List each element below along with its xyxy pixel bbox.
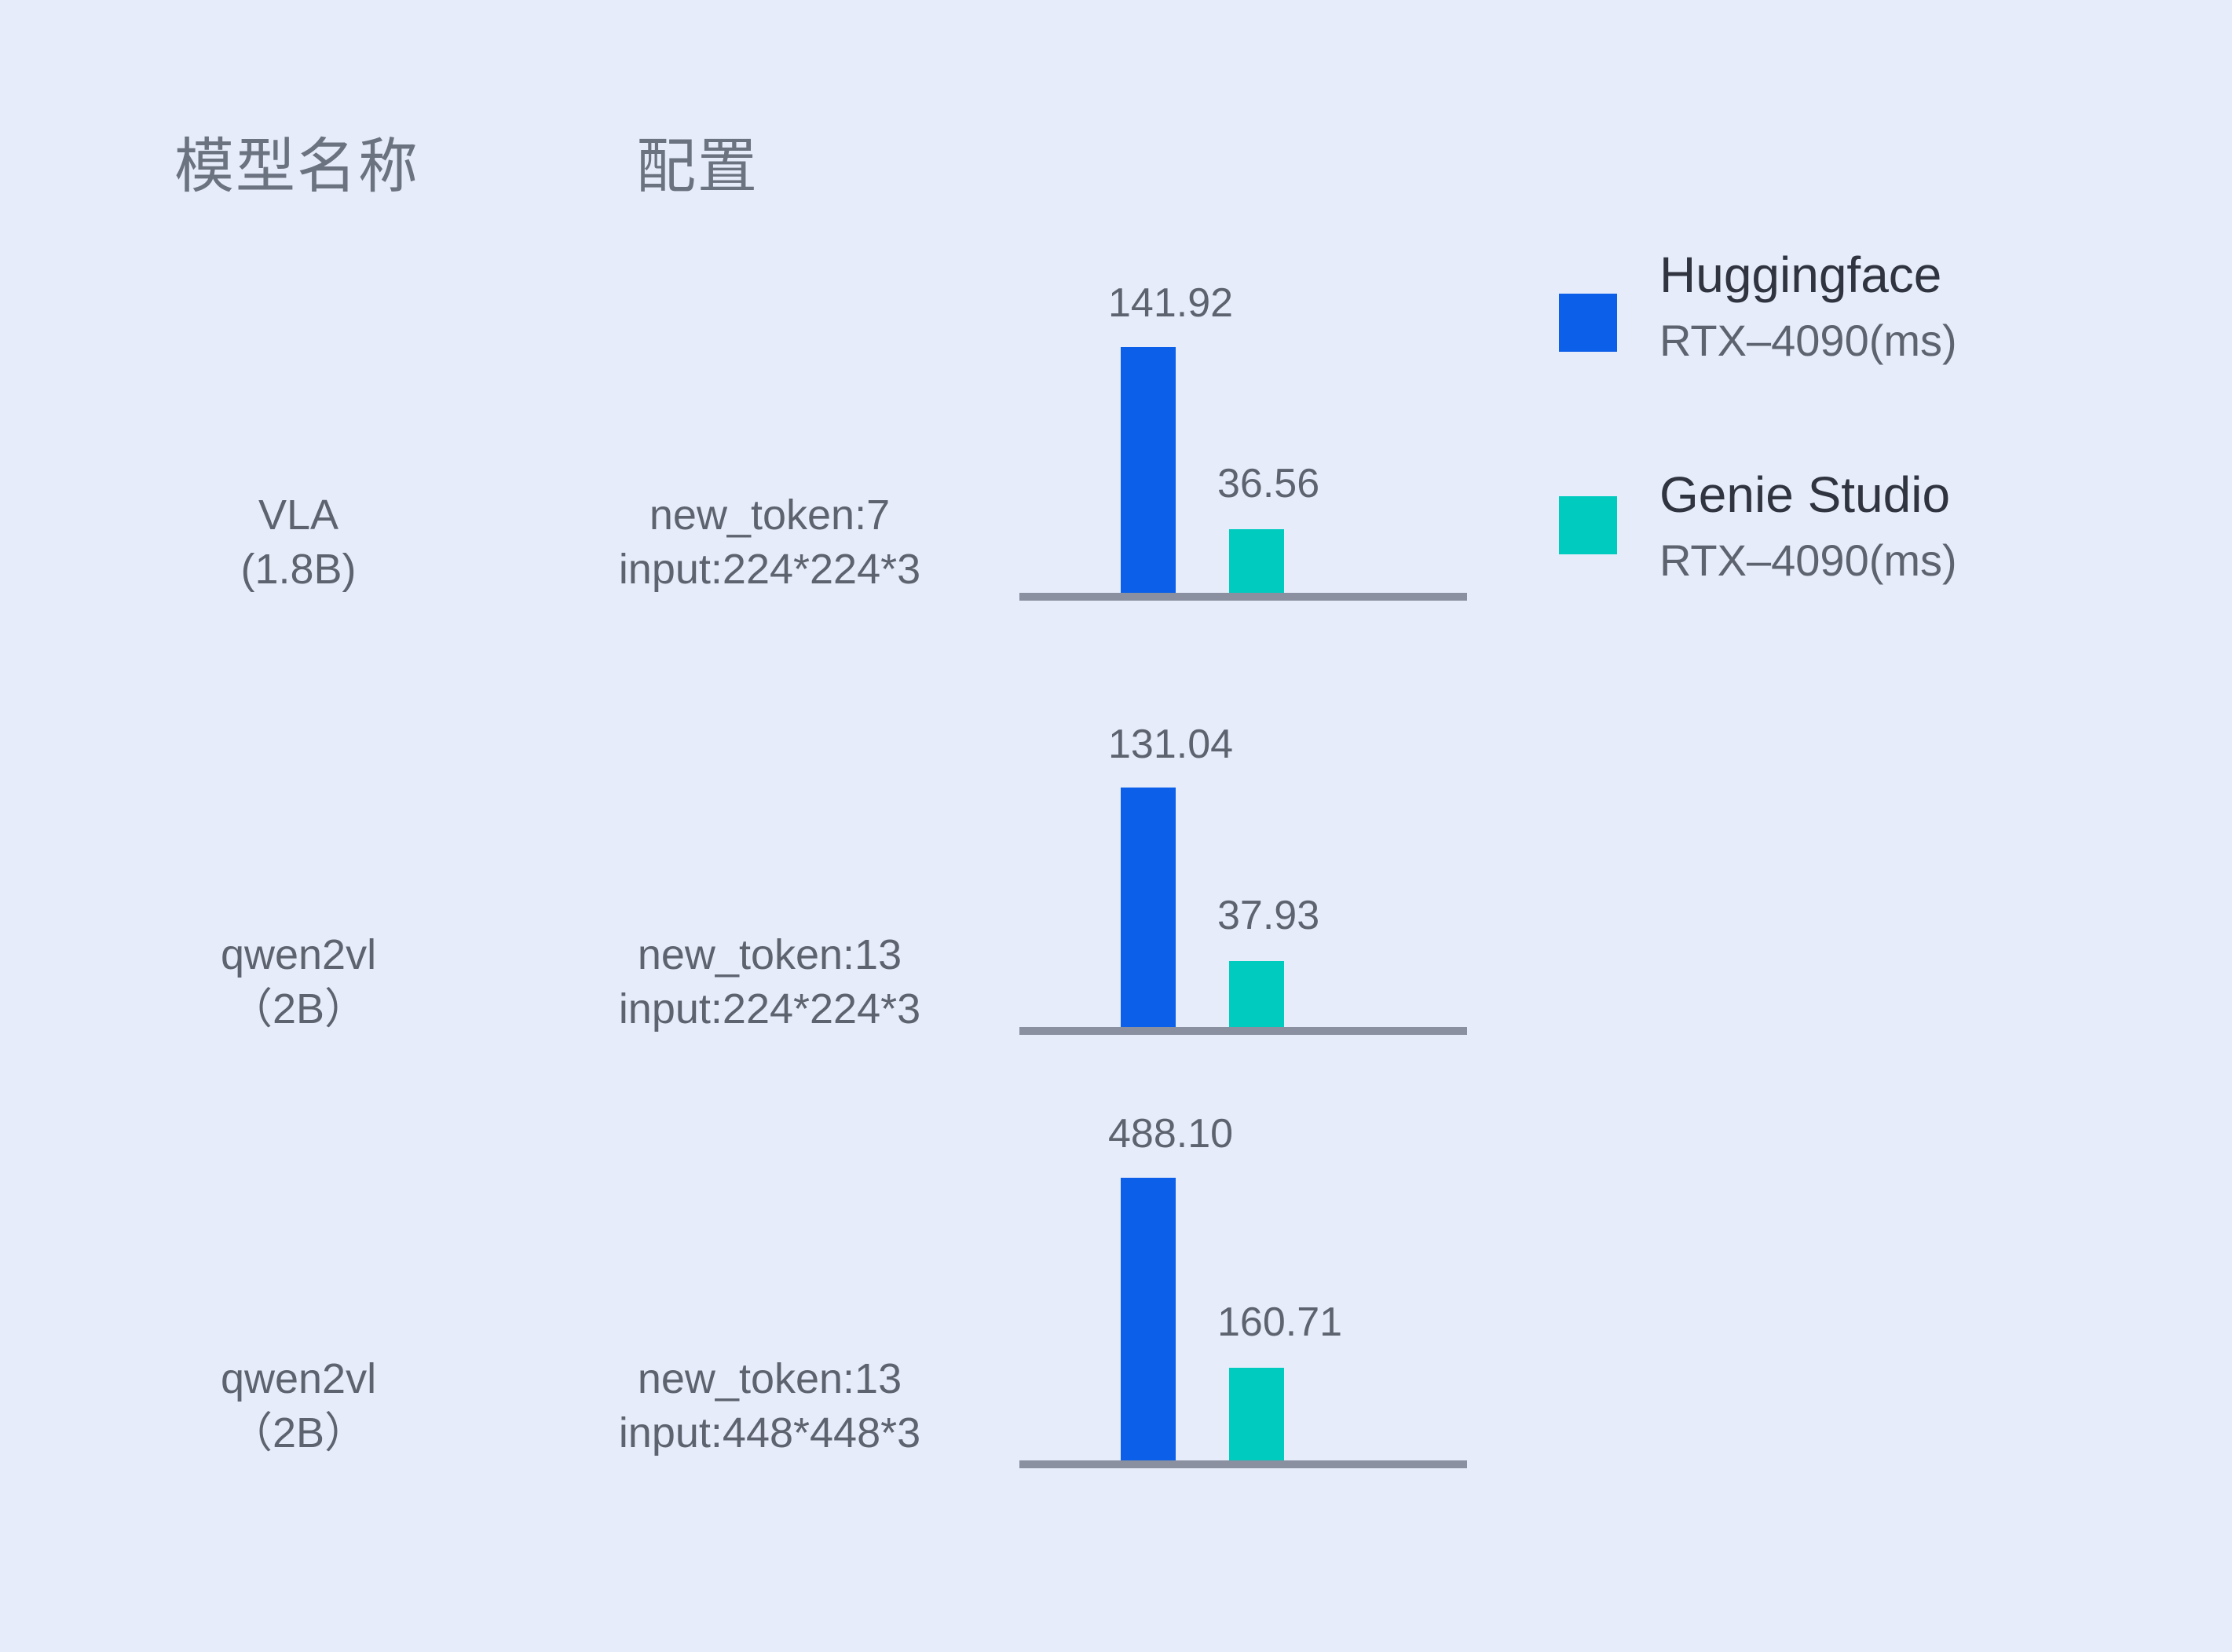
bar-genie-studio[interactable] (1229, 1368, 1284, 1460)
row-baseline (1019, 1460, 1467, 1468)
config-cell: new_token:13 input:448*448*3 (495, 1352, 1045, 1460)
model-name-line2: （2B） (134, 1406, 463, 1460)
model-name-line2: （2B） (134, 982, 463, 1036)
config-cell: new_token:7 input:224*224*3 (495, 488, 1045, 597)
bar-huggingface[interactable] (1121, 1178, 1176, 1465)
model-name-line2: (1.8B) (134, 543, 463, 597)
row-plot-area: 141.92 36.56 (1019, 236, 1467, 628)
legend-item-title: Genie Studio (1659, 470, 1950, 520)
column-header-config: 配置 (636, 137, 759, 197)
config-line1: new_token:13 (495, 928, 1045, 982)
bar-value-label-secondary: 37.93 (1217, 895, 1319, 936)
legend-item-subtitle: RTX–4090(ms) (1659, 539, 1957, 583)
benchmark-chart: 模型名称 配置 VLA (1.8B) new_token:7 input:224… (0, 0, 2232, 1652)
legend-item-title: Huggingface (1659, 250, 1941, 300)
config-line1: new_token:7 (495, 488, 1045, 543)
row-plot-area: 488.10 160.71 (1019, 1099, 1467, 1508)
bar-huggingface[interactable] (1121, 788, 1176, 1027)
bar-genie-studio[interactable] (1229, 961, 1284, 1027)
model-name-cell: VLA (1.8B) (134, 488, 463, 597)
bar-genie-studio[interactable] (1229, 529, 1284, 593)
bar-value-label-secondary: 36.56 (1217, 463, 1319, 504)
bar-value-label-primary: 141.92 (1108, 283, 1233, 323)
bar-value-label-secondary: 160.71 (1217, 1302, 1342, 1343)
bar-value-label-primary: 488.10 (1108, 1113, 1233, 1154)
legend-square-icon (1559, 294, 1617, 352)
row-baseline (1019, 593, 1467, 601)
config-line1: new_token:13 (495, 1352, 1045, 1406)
bar-huggingface[interactable] (1121, 347, 1176, 593)
model-name-line1: qwen2vl (134, 928, 463, 982)
legend-square-icon (1559, 496, 1617, 554)
chart-row: qwen2vl （2B） new_token:13 input:448*448*… (0, 1099, 2232, 1508)
model-name-cell: qwen2vl （2B） (134, 1352, 463, 1460)
config-line2: input:224*224*3 (495, 543, 1045, 597)
legend-item-subtitle: RTX–4090(ms) (1659, 319, 1957, 363)
column-header-model-name: 模型名称 (174, 137, 419, 197)
model-name-cell: qwen2vl （2B） (134, 928, 463, 1036)
model-name-line1: qwen2vl (134, 1352, 463, 1406)
model-name-line1: VLA (134, 488, 463, 543)
config-line2: input:448*448*3 (495, 1406, 1045, 1460)
config-line2: input:224*224*3 (495, 982, 1045, 1036)
bar-value-label-primary: 131.04 (1108, 724, 1233, 765)
config-cell: new_token:13 input:224*224*3 (495, 928, 1045, 1036)
row-plot-area: 131.04 37.93 (1019, 675, 1467, 1068)
row-baseline (1019, 1027, 1467, 1035)
chart-row: qwen2vl （2B） new_token:13 input:224*224*… (0, 675, 2232, 1068)
